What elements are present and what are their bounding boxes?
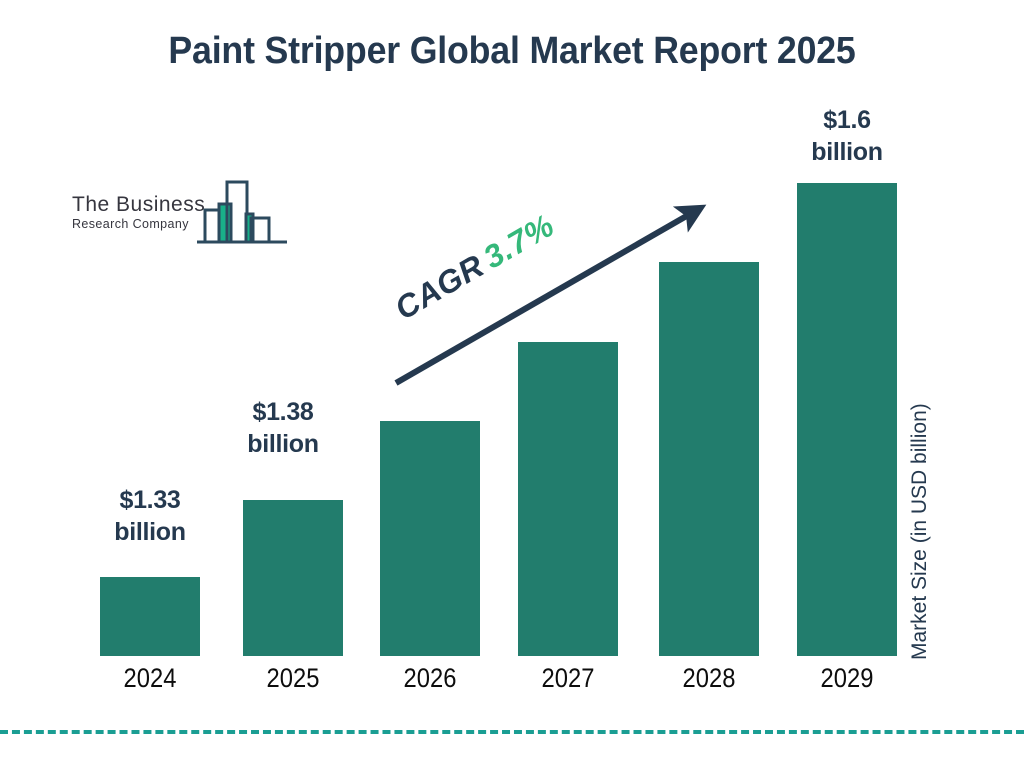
cagr-arrow [0,0,1024,768]
x-tick-label-2027: 2027 [524,663,612,694]
x-tick-label-2026: 2026 [386,663,474,694]
x-tick-label-2024: 2024 [106,663,194,694]
x-tick-label-2025: 2025 [249,663,337,694]
chart-page: Paint Stripper Global Market Report 2025… [0,0,1024,768]
x-tick-label-2028: 2028 [665,663,753,694]
footer-divider [0,730,1024,734]
y-axis-title: Market Size (in USD billion) [908,330,932,660]
x-tick-label-2029: 2029 [803,663,891,694]
bar-chart-plot-area: $1.33 billion $1.38 billion $1.6 billion… [0,0,1024,768]
